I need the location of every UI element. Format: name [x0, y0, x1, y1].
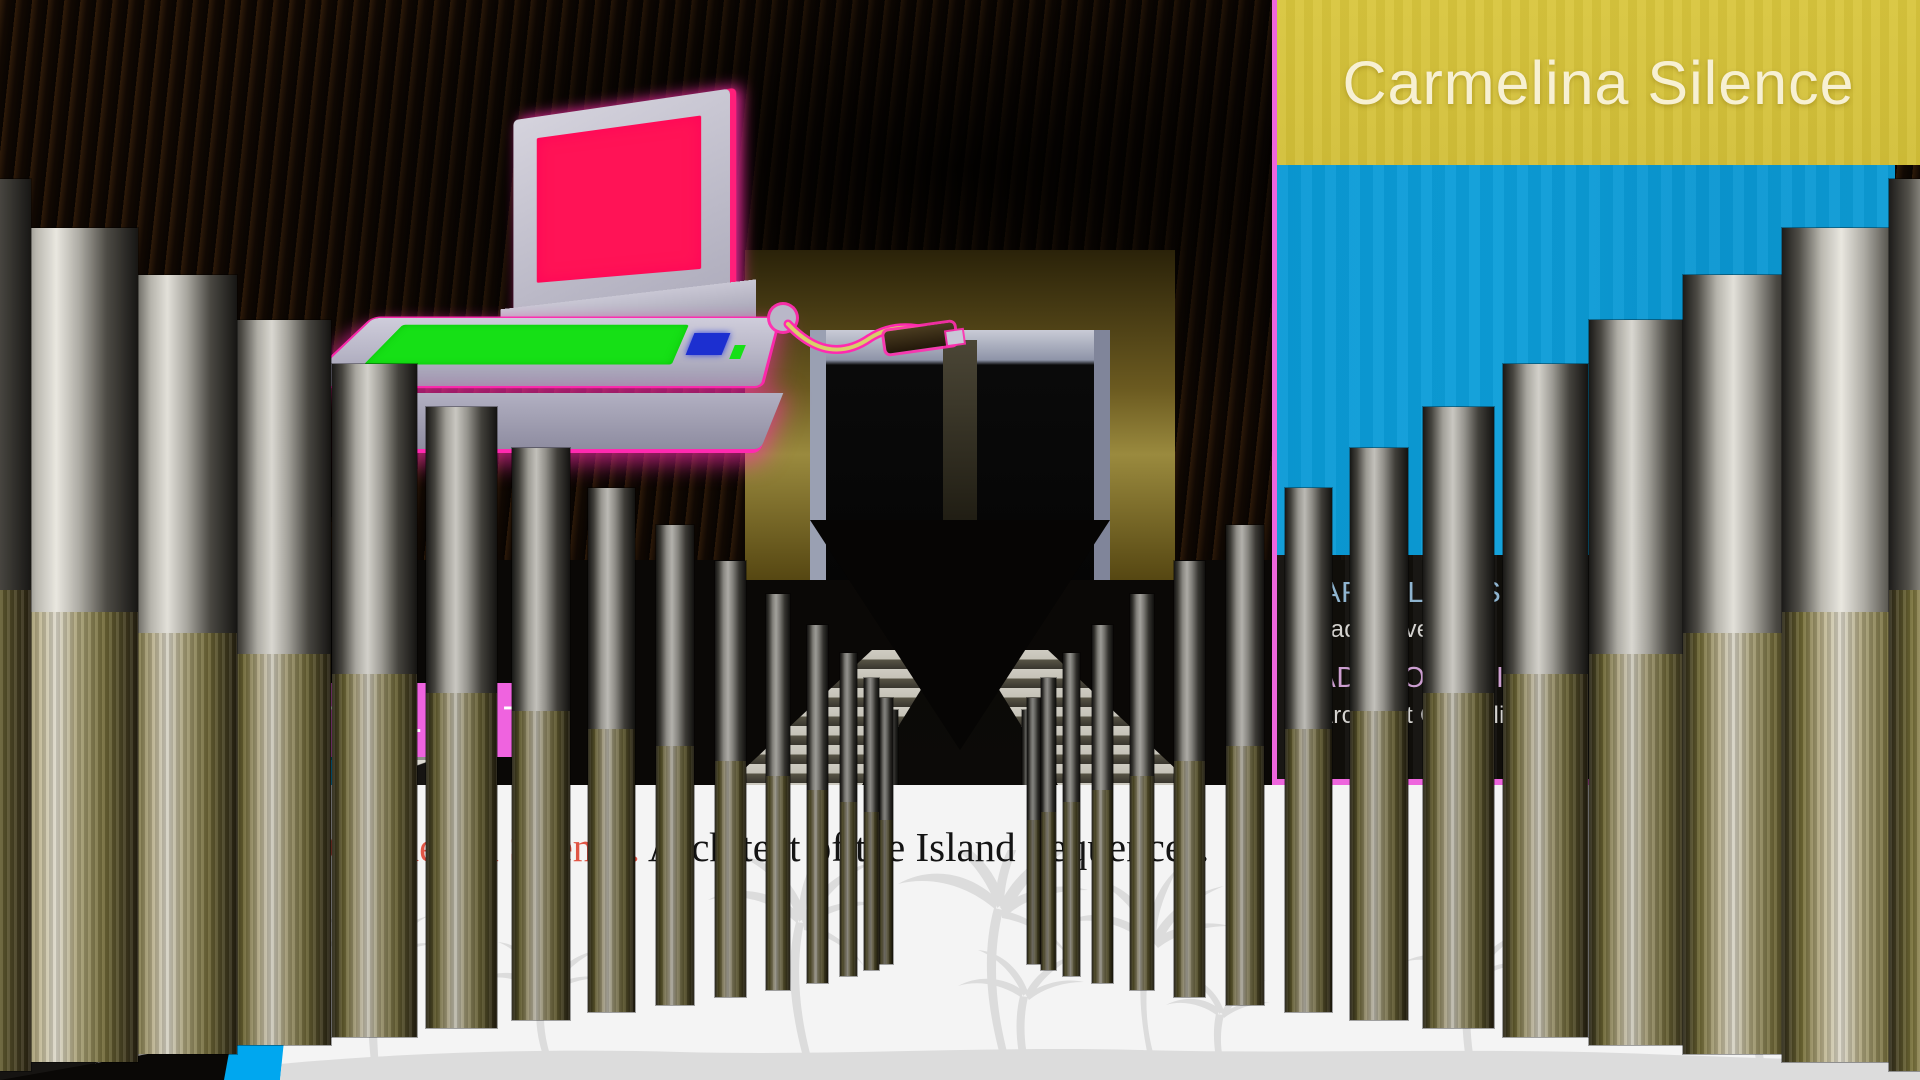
column: [1027, 698, 1041, 965]
column: [1589, 320, 1691, 1045]
laptop-screen: [537, 115, 701, 282]
character-name: Carmelina Silence: [1343, 48, 1855, 118]
column: [1423, 407, 1494, 1028]
column: [1226, 525, 1264, 1004]
column: [807, 625, 827, 983]
game-screen: Carmelina Silence [CARMELINA SILENCE]Lad…: [0, 0, 1920, 1080]
column: [879, 698, 893, 965]
column: [1889, 179, 1920, 1071]
column: [512, 448, 570, 1020]
column: [332, 364, 417, 1036]
column: [1041, 678, 1056, 970]
laptop-lid: [513, 89, 730, 318]
retro-laptop: [340, 105, 960, 425]
column: [864, 678, 879, 970]
column: [426, 407, 497, 1028]
column: [1285, 488, 1332, 1013]
cable-connector-tip: [946, 330, 964, 345]
column: [1350, 448, 1408, 1020]
column: [1174, 561, 1205, 997]
column: [1130, 594, 1155, 990]
column: [0, 179, 31, 1071]
column: [1063, 653, 1080, 976]
column: [840, 653, 857, 976]
column: [588, 488, 635, 1013]
character-nameplate: Carmelina Silence: [1277, 0, 1920, 165]
column: [715, 561, 746, 997]
column: [656, 525, 694, 1004]
column: [766, 594, 791, 990]
column: [1092, 625, 1112, 983]
column: [229, 320, 331, 1045]
column: [1503, 364, 1588, 1036]
laptop-keyboard: [364, 325, 689, 365]
